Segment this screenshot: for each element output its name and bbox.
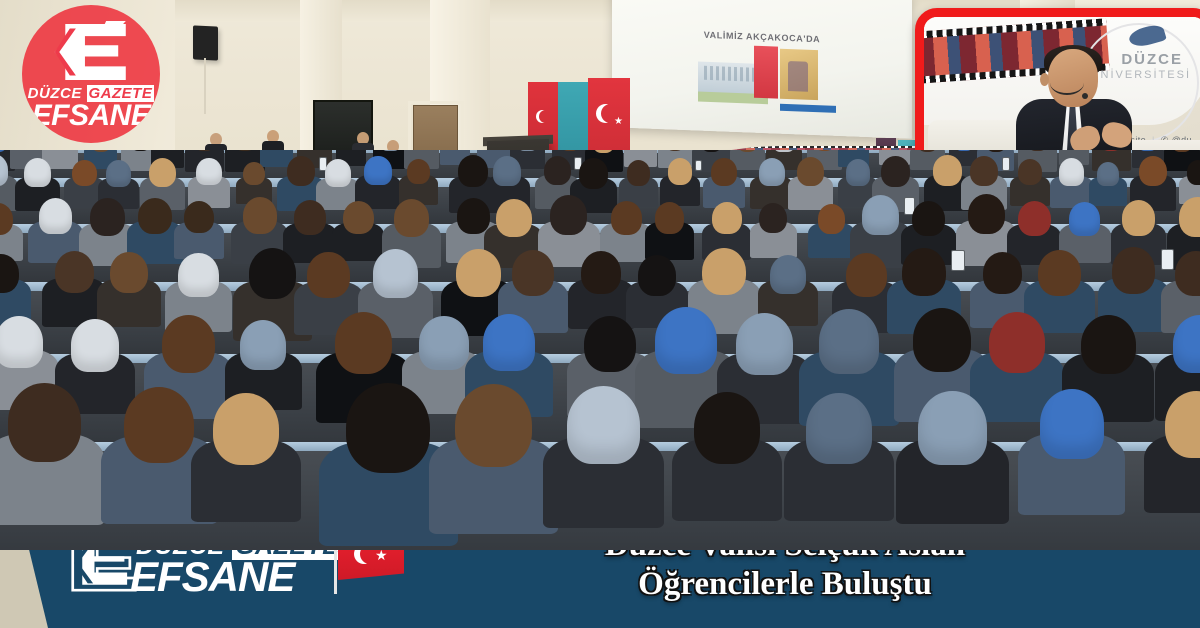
- slide-flag-image: [754, 46, 778, 99]
- watermark-logo: DÜZCE GAZETE EFSANE: [22, 5, 160, 143]
- wall-speaker: [193, 25, 218, 60]
- flag-star-icon: ★: [375, 548, 388, 562]
- audience-row: [0, 150, 1200, 550]
- audience-member-head: [8, 383, 81, 461]
- slide-title: VALİMİZ AKÇAKOCA'DA: [612, 26, 912, 48]
- speaker-cable: [204, 58, 206, 114]
- audience-member-head: [346, 383, 430, 473]
- inset-ear: [1040, 73, 1049, 86]
- audience-member-head: [694, 392, 760, 464]
- audience-member-head: [918, 391, 986, 465]
- audience-member-head: [1040, 389, 1105, 459]
- audience-area: [0, 150, 1200, 550]
- microphone-tip-icon: [1082, 93, 1088, 99]
- flag-star-icon: ★: [614, 118, 621, 125]
- slide-artwork: [698, 44, 818, 107]
- audience-member-head: [213, 393, 279, 464]
- headline-line-2: Öğrencilerle Buluştu: [400, 565, 1170, 604]
- banner-logo-line2: EFSANE: [130, 556, 294, 598]
- headset-microphone-icon: [1050, 71, 1084, 95]
- news-card: VALİMİZ AKÇAKOCA'DA ★ DÜZCE ÜNİVERSİTESİ: [0, 0, 1200, 628]
- audience-member-head: [806, 393, 872, 464]
- efsane-e-monogram-icon: [52, 21, 130, 83]
- slide-photo-image: [780, 49, 818, 100]
- flag-crescent-icon: [596, 104, 615, 123]
- audience-member-head: [567, 386, 640, 465]
- audience-member-head: [455, 384, 532, 467]
- slide-caption-bar: [780, 104, 836, 113]
- projection-screen: VALİMİZ AKÇAKOCA'DA: [612, 0, 912, 139]
- watermark-line2: EFSANE: [22, 101, 160, 131]
- audience-member-head: [124, 387, 194, 463]
